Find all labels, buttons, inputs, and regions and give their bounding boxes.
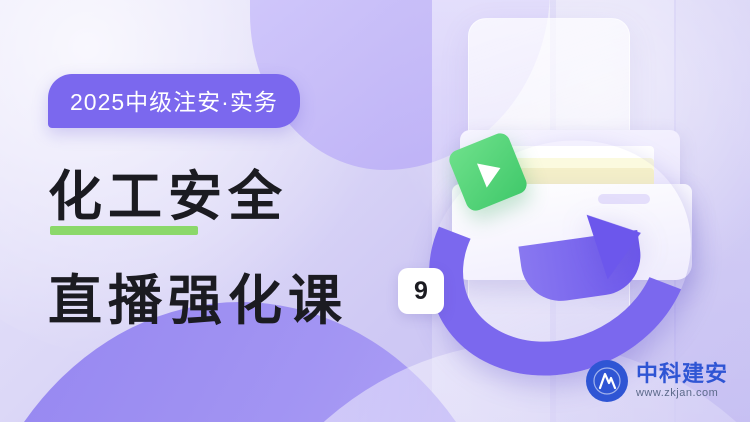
episode-number-badge: 9 bbox=[398, 268, 444, 314]
brand-url: www.zkjan.com bbox=[636, 388, 728, 400]
course-promo-banner: 2025中级注安·实务 化工安全 直播强化课 9 中科建安 www.zkjan.… bbox=[0, 0, 750, 422]
brand-logo: 中科建安 www.zkjan.com bbox=[586, 360, 728, 402]
brand-logo-text: 中科建安 www.zkjan.com bbox=[636, 362, 728, 400]
brand-name: 中科建安 bbox=[636, 362, 728, 385]
course-tag-pill: 2025中级注安·实务 bbox=[48, 74, 300, 128]
zkjan-logo-mark-icon bbox=[586, 360, 628, 402]
play-triangle-icon bbox=[477, 156, 505, 188]
page-title-line-2: 直播强化课 bbox=[48, 256, 348, 335]
page-title-line-1: 化工安全 bbox=[48, 152, 288, 231]
illustration-group bbox=[400, 110, 730, 340]
